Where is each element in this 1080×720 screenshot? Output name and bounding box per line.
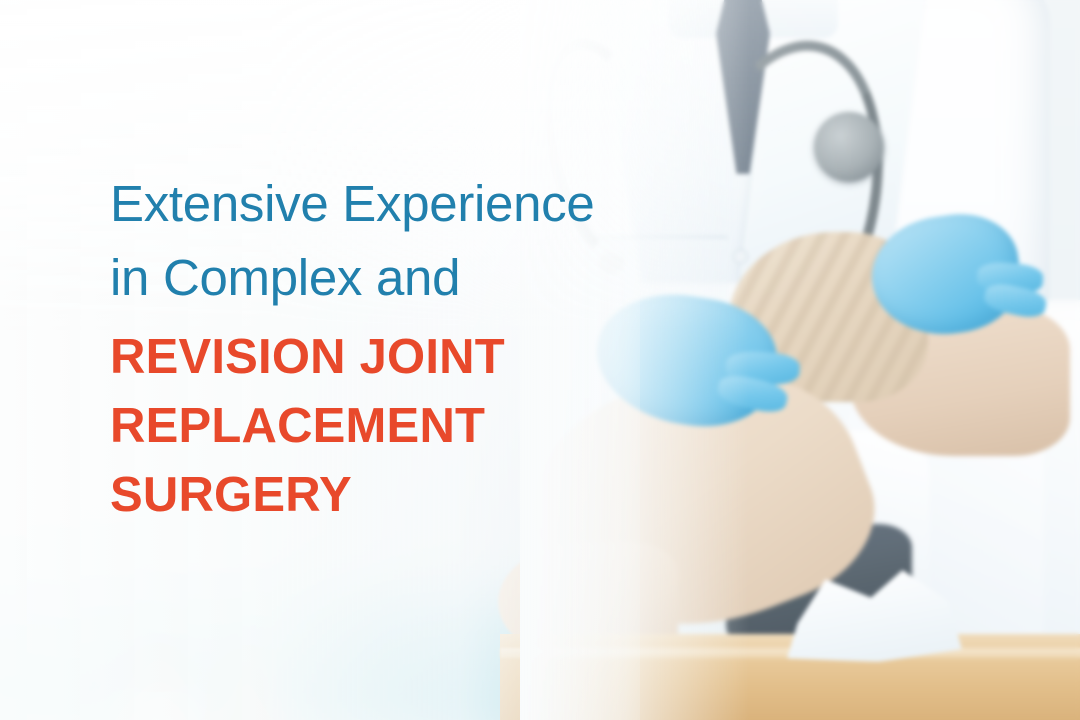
headline-block: Extensive Experience in Complex and REVI… bbox=[110, 178, 810, 520]
promotional-banner: Extensive Experience in Complex and REVI… bbox=[0, 0, 1080, 720]
headline-line-5: SURGERY bbox=[110, 471, 810, 520]
headline-line-1: Extensive Experience bbox=[110, 178, 810, 229]
headline-line-2: in Complex and bbox=[110, 252, 810, 303]
headline-line-3: REVISION JOINT bbox=[110, 333, 810, 382]
headline-line-4: REPLACEMENT bbox=[110, 402, 810, 451]
